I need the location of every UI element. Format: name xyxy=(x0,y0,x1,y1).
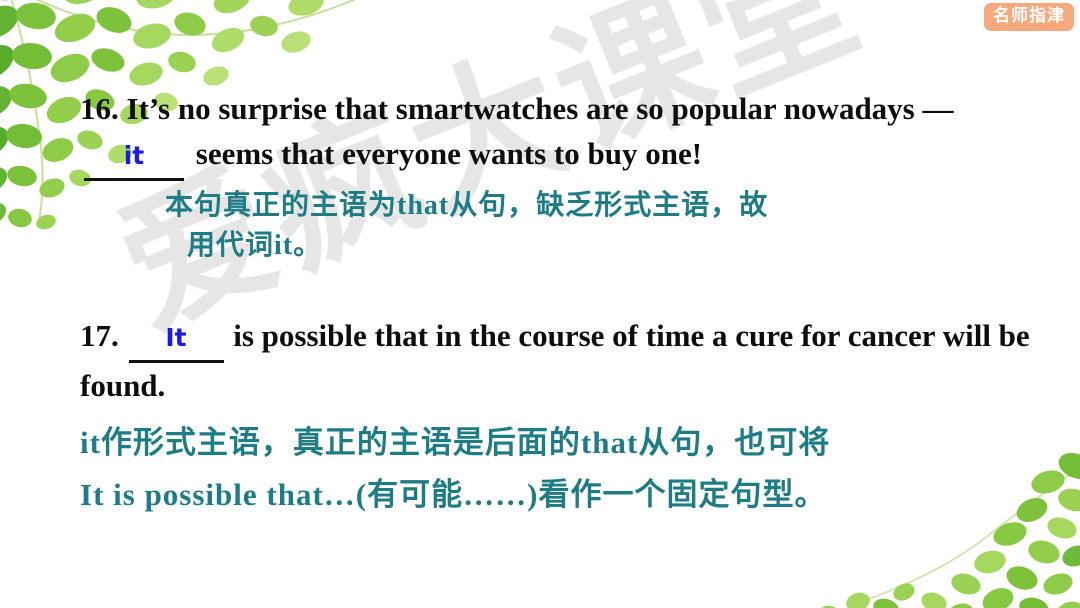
question-16-number: 16. xyxy=(80,91,119,126)
question-16-note-line-2: 用代词it。 xyxy=(165,226,995,266)
question-16-text-after: seems that everyone wants to buy one! xyxy=(188,136,702,171)
slide-canvas: 爱疯大课堂 xyxy=(0,0,1080,608)
question-17-blank[interactable]: It xyxy=(129,313,224,363)
question-16-sentence: 16. It’s no surprise that smartwatches a… xyxy=(80,86,1050,181)
question-16-blank[interactable]: it xyxy=(84,131,184,181)
question-17-note-line-1: it作形式主语，真正的主语是后面的that从句，也可将 xyxy=(80,417,1040,469)
status-badge: 名师指津 xyxy=(984,3,1074,31)
question-17-note-line-2: It is possible that…(有可能……)看作一个固定句型。 xyxy=(80,469,1040,521)
question-17-number: 17. xyxy=(80,318,119,353)
question-17: 17. It is possible that in the course of… xyxy=(80,313,1050,408)
question-16-answer: it xyxy=(124,141,145,170)
question-16-text-before: It’s no surprise that smartwatches are s… xyxy=(127,91,954,126)
question-16-note: 本句真正的主语为that从句，缺乏形式主语，故 用代词it。 xyxy=(165,186,995,266)
question-16-note-line-1: 本句真正的主语为that从句，缺乏形式主语，故 xyxy=(165,186,995,226)
question-17-sentence: 17. It is possible that in the course of… xyxy=(80,313,1050,408)
question-16: 16. It’s no surprise that smartwatches a… xyxy=(80,86,1050,181)
question-17-note: it作形式主语，真正的主语是后面的that从句，也可将 It is possib… xyxy=(80,417,1040,521)
question-17-answer: It xyxy=(165,323,186,352)
slide-content: 16. It’s no surprise that smartwatches a… xyxy=(0,0,1080,608)
